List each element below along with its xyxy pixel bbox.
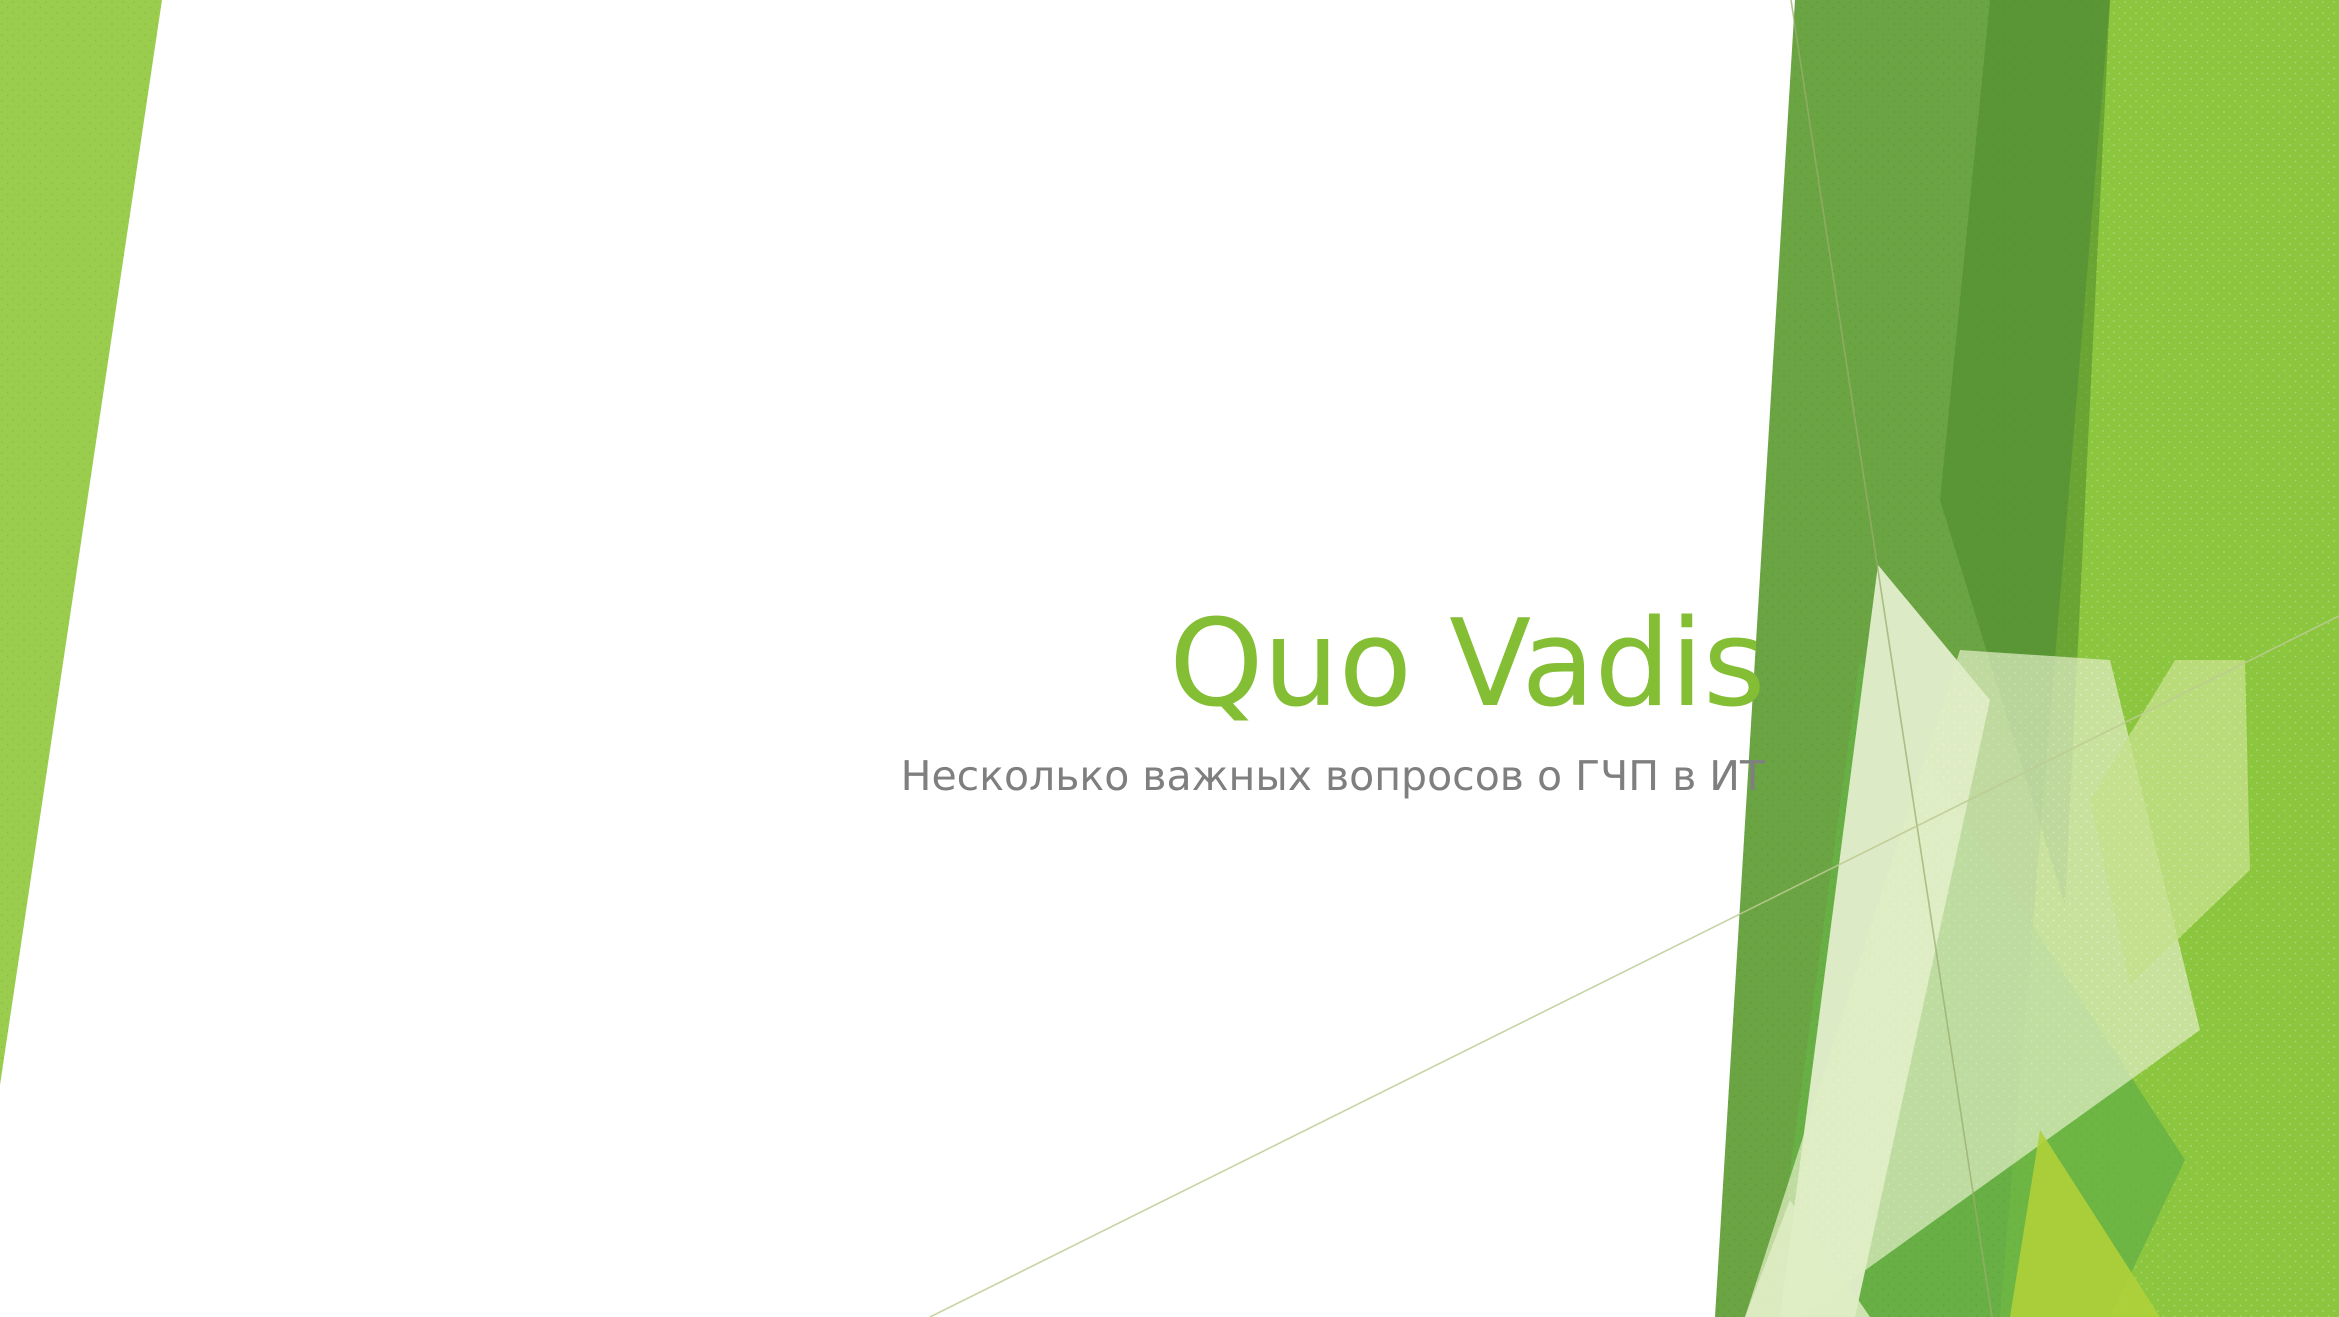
facet-bright-wedge xyxy=(1905,0,2265,1317)
hairline-steep xyxy=(1791,0,1992,1317)
facet-pale-bottom-tip xyxy=(1745,1200,1870,1317)
facet-light-diamond xyxy=(2090,660,2250,985)
facet-pale-sliver-upper xyxy=(1780,565,1990,1317)
facet-green-blade xyxy=(1770,660,2185,1317)
page-subtitle: Несколько важных вопросов о ГЧП в ИТ xyxy=(665,752,1765,801)
facet-mid-body xyxy=(1715,0,2110,1317)
facet-dark-overlap xyxy=(1940,0,2110,905)
presentation-slide: Quo Vadis Несколько важных вопросов о ГЧ… xyxy=(0,0,2339,1317)
right-facet-polygons xyxy=(1715,0,2339,1317)
facet-bright-column xyxy=(2130,0,2339,1317)
facet-notch-bottom xyxy=(2010,1130,2160,1317)
facet-pale-pane xyxy=(1745,650,2200,1317)
page-title: Quo Vadis xyxy=(665,600,1765,730)
title-text-block: Quo Vadis Несколько важных вопросов о ГЧ… xyxy=(665,600,1765,801)
left-green-wedge xyxy=(0,0,162,1085)
